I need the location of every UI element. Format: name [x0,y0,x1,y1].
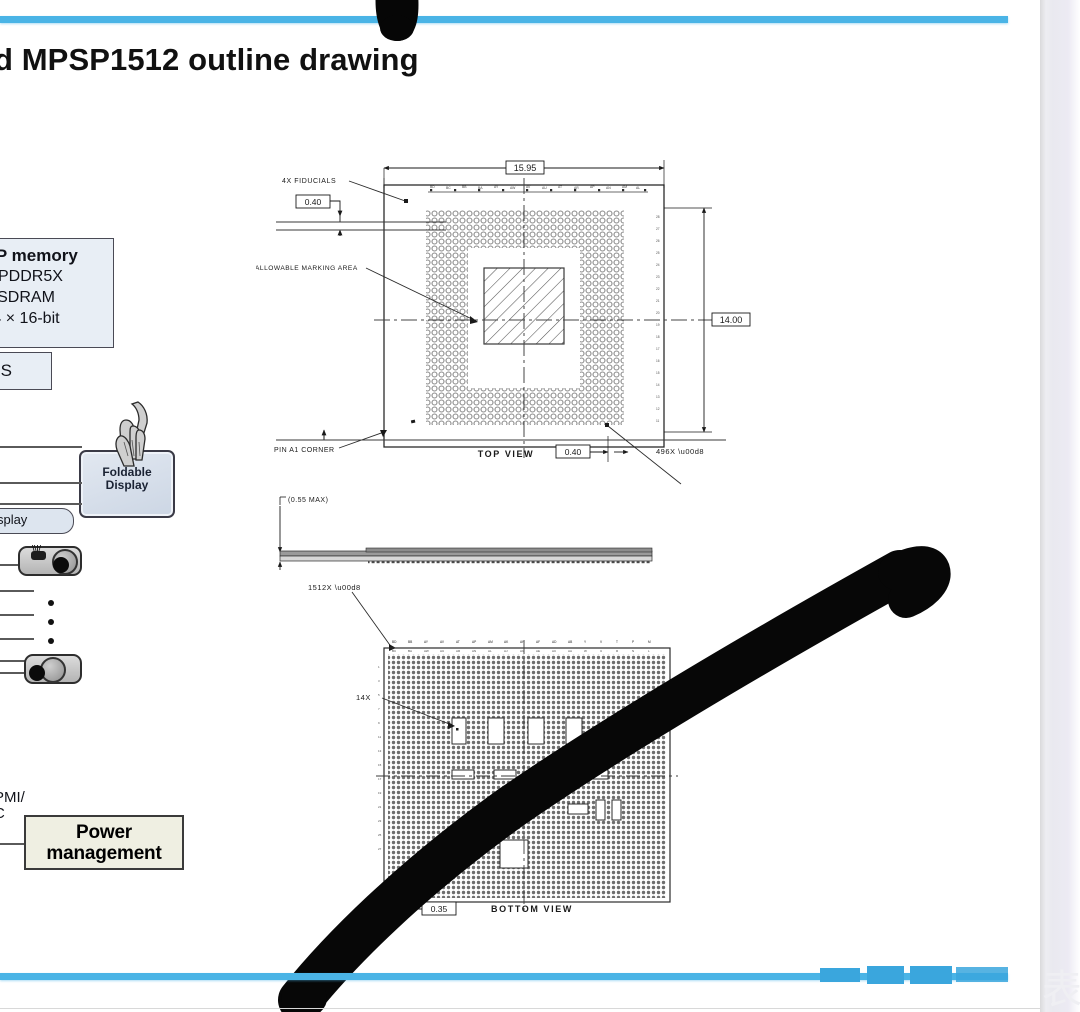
top-view-height-dimension: 14.00 [720,315,743,325]
camera-module-icon [24,654,82,684]
svg-text:BD: BD [430,185,435,189]
camera-lens-inner-icon [29,665,45,681]
power-management-line2: management [26,843,182,864]
svg-text:14: 14 [656,383,660,387]
redaction-block [820,968,860,982]
screenshot-root: d MPSP1512 outline drawing PoP memory LP… [0,0,1080,1012]
power-management-line1: Power [26,822,182,843]
camera-lens-outer-icon [40,657,66,683]
svg-text:16: 16 [656,359,660,363]
pmi-label: PMI/ C [0,790,25,822]
svg-text:AP: AP [472,640,476,644]
svg-text:23: 23 [378,819,382,823]
camera-lens-inner-icon [53,557,69,573]
watermark-glyph: 表 [1042,970,1080,1010]
svg-text:11: 11 [656,419,660,423]
pop-memory-line3: 4 × 16-bit [0,310,113,328]
svg-text:3: 3 [378,679,380,683]
page-bottom-divider [0,1008,1040,1009]
page-title: d MPSP1512 outline drawing [0,42,419,78]
svg-text:9: 9 [378,721,380,725]
svg-text:BB: BB [408,640,412,644]
camera-module-icon: \\|/ [18,546,82,576]
package-outline-drawing: BDBCBB BAAYAW AVAUAT ARAPAN AMAL 282726 [256,140,756,930]
svg-text:25: 25 [656,251,660,255]
svg-text:AR: AR [456,649,461,653]
wire-stub-1 [0,590,34,592]
redaction-block [867,966,904,984]
wire-stub-3 [0,638,34,640]
svg-text:24: 24 [656,263,660,267]
svg-text:AY: AY [494,185,499,189]
svg-text:AC: AC [552,649,557,653]
page-right-gutter: 表 [1040,0,1080,1012]
svg-text:AN: AN [472,649,476,653]
wire-stub-2 [0,614,34,616]
svg-text:AL: AL [636,186,640,190]
pin-a1-corner-note: PIN A1 CORNER [274,447,335,454]
svg-text:27: 27 [656,227,660,231]
svg-text:25: 25 [378,833,382,837]
bottom-view-pitch-dimension: 0.35 [431,904,448,914]
camera-flash-icon [31,551,46,560]
svg-text:5: 5 [378,693,380,697]
svg-text:AE: AE [536,649,540,653]
svg-text:17: 17 [378,777,382,781]
svg-text:AN: AN [606,186,611,190]
svg-text:11: 11 [378,735,381,739]
top-view-caption: TOP VIEW [478,449,534,459]
svg-text:AV: AV [526,185,531,189]
bottom-view-quantity-note: 14X [356,693,371,702]
svg-text:AT: AT [558,185,562,189]
side-view-thickness-note: (0.55 MAX) [288,497,328,504]
block-pop-memory: PoP memory LPDDR5X SDRAM 4 × 16-bit [0,238,114,348]
svg-text:13: 13 [656,395,660,399]
redaction-block [956,967,1008,982]
svg-text:N: N [632,649,634,653]
svg-text:AL: AL [488,649,492,653]
svg-text:Y: Y [584,640,587,644]
slide-canvas: d MPSP1512 outline drawing PoP memory LP… [0,0,1040,1012]
svg-text:AY: AY [424,640,429,644]
svg-text:BB: BB [462,185,467,189]
marking-area-note: ALLOWABLE MARKING AREA [256,265,358,272]
svg-text:20: 20 [656,311,660,315]
svg-text:T: T [616,640,618,644]
svg-text:BC: BC [446,186,451,190]
svg-text:P: P [632,640,634,644]
svg-text:U: U [600,649,602,653]
svg-text:W: W [584,649,587,653]
svg-text:AU: AU [440,649,444,653]
svg-text:BC: BC [392,649,397,653]
svg-text:BA: BA [408,649,412,653]
svg-text:AD: AD [552,640,557,644]
wire-to-camera-2 [0,672,26,674]
svg-text:21: 21 [656,299,660,303]
svg-text:M: M [648,640,651,644]
svg-text:17: 17 [656,347,660,351]
svg-text:AM: AM [488,640,493,644]
svg-text:19: 19 [656,323,660,327]
redaction-block [910,966,952,984]
block-ufs: UFS [0,352,52,390]
block-display: Display [0,508,74,534]
svg-text:AA: AA [568,649,572,653]
vertical-ellipsis-icon [48,600,56,657]
top-view-pitch-dimension: 0.40 [565,447,582,457]
fiducials-note: 4X FIDUCIALS [282,178,336,185]
pointing-hand-cursor-icon [108,396,154,486]
wire-to-camera-1 [0,564,20,566]
pmi-label-line1: PMI/ [0,790,25,806]
svg-text:26: 26 [656,239,660,243]
bottom-view-ball-count-note: 1512X \u00d8 [308,583,361,592]
svg-text:19: 19 [378,791,382,795]
svg-text:AU: AU [542,186,547,190]
svg-text:12: 12 [656,407,660,411]
svg-text:7: 7 [378,707,380,711]
fiducial-dimension: 0.40 [305,197,322,207]
camera-lens-outer-icon [52,549,78,575]
svg-text:23: 23 [656,275,660,279]
svg-text:21: 21 [378,805,382,809]
svg-text:AK: AK [504,640,509,644]
svg-text:15: 15 [656,371,660,375]
svg-text:15: 15 [378,763,382,767]
svg-text:AT: AT [456,640,460,644]
top-view-ball-count-note: 496X \u00d8 [656,447,704,456]
pop-memory-line2: SDRAM [0,289,113,307]
svg-text:R: R [616,649,619,653]
svg-text:AV: AV [440,640,445,644]
svg-text:AJ: AJ [504,649,508,653]
wire-to-foldable-3 [0,503,82,505]
svg-text:22: 22 [656,287,660,291]
gutter-shadow [1040,0,1046,1012]
svg-text:1: 1 [378,665,380,669]
pmi-label-line2: C [0,806,25,822]
svg-text:L: L [648,649,650,653]
svg-text:28: 28 [656,215,660,219]
bottom-view-caption: BOTTOM VIEW [491,904,573,914]
svg-text:AB: AB [568,640,572,644]
svg-text:AM: AM [622,185,627,189]
block-power-management: Power management [24,815,184,870]
top-view-width-dimension: 15.95 [514,163,537,173]
wire-to-foldable-1 [0,446,82,448]
svg-text:AP: AP [590,185,595,189]
svg-text:18: 18 [656,335,660,339]
svg-text:AW: AW [424,649,429,653]
pop-memory-heading: PoP memory [0,246,113,265]
redacted-watermark-banner [820,964,1010,986]
pop-memory-line1: LPDDR5X [0,268,113,286]
wire-to-foldable-2 [0,482,82,484]
wire-to-power [0,843,26,845]
svg-text:27: 27 [378,847,382,851]
svg-text:13: 13 [378,749,382,753]
svg-text:BD: BD [392,640,397,644]
svg-text:AF: AF [536,640,540,644]
svg-text:AW: AW [510,186,516,190]
svg-text:V: V [600,640,603,644]
top-blue-rule [0,16,1008,23]
